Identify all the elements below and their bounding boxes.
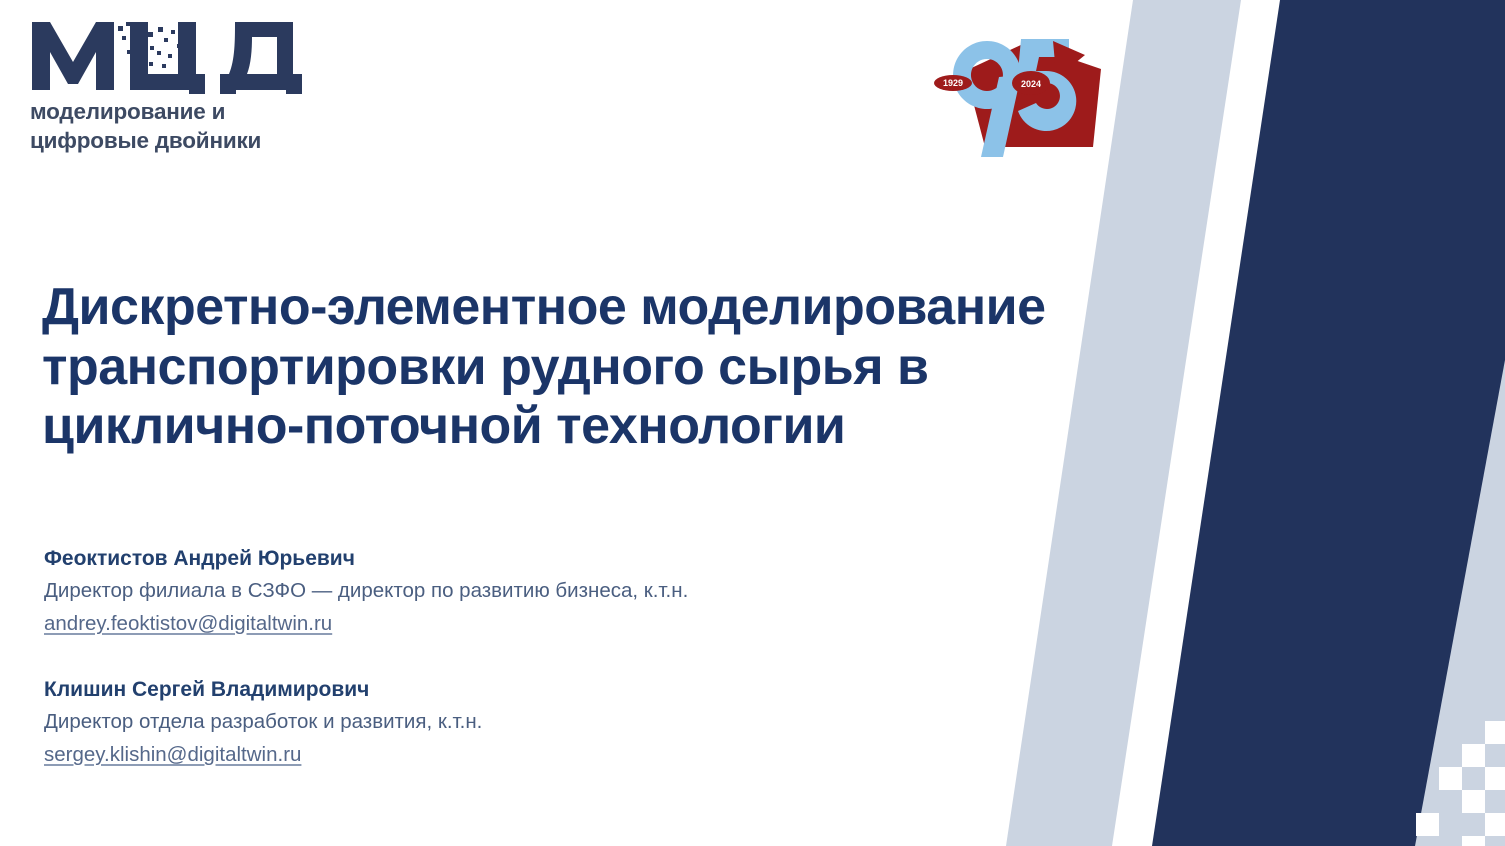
pixel-checker-pattern: [1416, 721, 1505, 846]
band-navy: [1152, 0, 1505, 846]
emblem-year-from: 1929: [943, 78, 963, 88]
logo-pixel-spray-icon: [118, 22, 184, 68]
brand-tagline: моделирование и цифровые двойники: [30, 98, 320, 156]
author-name: Клишин Сергей Владимирович: [44, 674, 944, 706]
author-role: Директор филиала в СЗФО — директор по ра…: [44, 575, 944, 607]
author-entry: Клишин Сергей Владимирович Директор отде…: [44, 674, 944, 771]
author-email-link[interactable]: sergey.klishin@digitaltwin.ru: [44, 739, 301, 771]
band-gray-right: [1415, 360, 1505, 846]
anniversary-emblem: 1929 2024: [925, 25, 1115, 160]
anniversary-95-emblem-icon: 1929 2024: [925, 25, 1115, 160]
author-name: Феоктистов Андрей Юрьевич: [44, 543, 944, 575]
author-role: Директор отдела разработок и развития, к…: [44, 706, 944, 738]
brand-logo: моделирование и цифровые двойники: [30, 18, 320, 156]
author-entry: Феоктистов Андрей Юрьевич Директор филиа…: [44, 543, 944, 640]
page-title: Дискретно-элементное моделирование транс…: [42, 278, 1057, 457]
mtsd-logo-icon: [30, 18, 302, 94]
author-email-link[interactable]: andrey.feoktistov@digitaltwin.ru: [44, 608, 332, 640]
authors-list: Феоктистов Андрей Юрьевич Директор филиа…: [44, 543, 944, 771]
title-slide: моделирование и цифровые двойники 1929 2…: [0, 0, 1505, 846]
emblem-year-to: 2024: [1021, 79, 1041, 89]
